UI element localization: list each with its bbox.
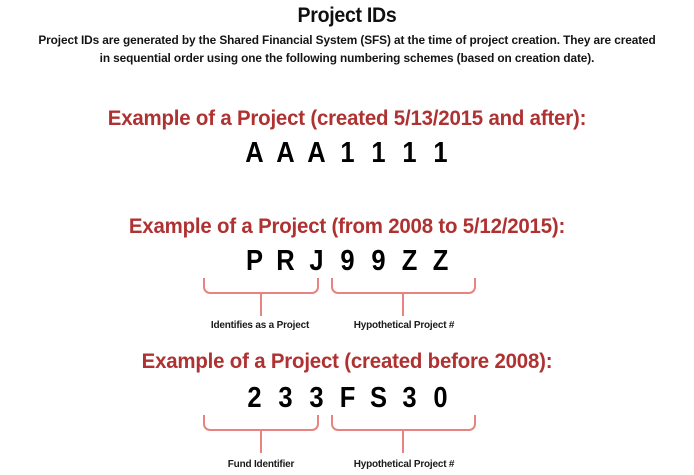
brace-stem-2 (402, 294, 404, 316)
intro-paragraph: Project IDs are generated by the Shared … (19, 31, 674, 67)
intro-line-1: Project IDs are generated by the Shared … (19, 31, 674, 49)
code-char: S (364, 381, 391, 415)
code-char: Z (426, 244, 453, 278)
example-block-3: Example of a Project (created before 200… (0, 348, 694, 475)
code-char: F (333, 381, 360, 415)
intro-line-2: in sequential order using one the follow… (19, 49, 674, 67)
code-char: 3 (271, 381, 298, 415)
example-2-caption-1: Identifies as a Project (189, 318, 332, 332)
example-3-caption-1: Fund Identifier (190, 457, 333, 471)
example-2-caption-2: Hypothetical Project # (333, 318, 476, 332)
code-char: 1 (395, 136, 422, 170)
example-block-2: Example of a Project (from 2008 to 5/12/… (0, 213, 694, 336)
example-2-heading: Example of a Project (from 2008 to 5/12/… (17, 213, 676, 239)
brace-segment-1 (203, 278, 319, 294)
code-char: A (271, 136, 298, 170)
code-char: Z (395, 244, 422, 278)
brace-stem-2 (402, 431, 404, 453)
brace-segment-2 (331, 415, 476, 431)
example-2-brace-layer (0, 278, 694, 322)
code-char: 0 (426, 381, 453, 415)
example-3-segment-1: 233 (239, 381, 332, 415)
example-2-caption-layer: Identifies as a Project Hypothetical Pro… (0, 318, 694, 336)
code-char: J (302, 244, 329, 278)
example-3-segment-2: FS30 (332, 381, 456, 415)
example-1-code: AAA1111 (0, 136, 694, 170)
example-3-heading: Example of a Project (created before 200… (17, 348, 676, 374)
code-char: P (240, 244, 267, 278)
example-1-segment-1: AAA1111 (239, 136, 456, 170)
code-char: 1 (364, 136, 391, 170)
example-1-code-row: AAA1111 (0, 136, 694, 170)
code-char: 1 (333, 136, 360, 170)
example-3-code-row: 233 FS30 (0, 381, 694, 415)
example-3-caption-2: Hypothetical Project # (333, 457, 476, 471)
code-char: R (271, 244, 298, 278)
code-char: 3 (302, 381, 329, 415)
example-3-caption-layer: Fund Identifier Hypothetical Project # (0, 457, 694, 475)
code-char: 1 (426, 136, 453, 170)
example-block-1: Example of a Project (created 5/13/2015 … (0, 105, 694, 170)
code-char: A (240, 136, 267, 170)
example-2-segment-1: PRJ (239, 244, 332, 278)
example-1-heading: Example of a Project (created 5/13/2015 … (17, 105, 676, 131)
slide-canvas: Project IDs Project IDs are generated by… (0, 0, 694, 474)
example-3-brace-layer (0, 415, 694, 459)
brace-segment-2 (331, 278, 476, 294)
example-3-code: 233 FS30 (0, 381, 694, 415)
example-2-code-row: PRJ 99ZZ (0, 244, 694, 278)
code-char: 9 (364, 244, 391, 278)
page-title: Project IDs (24, 3, 669, 29)
brace-segment-1 (203, 415, 319, 431)
code-char: 9 (333, 244, 360, 278)
example-2-segment-2: 99ZZ (332, 244, 456, 278)
example-2-code: PRJ 99ZZ (0, 244, 694, 278)
code-char: 2 (240, 381, 267, 415)
code-char: A (302, 136, 329, 170)
brace-stem-1 (260, 431, 262, 453)
code-char: 3 (395, 381, 422, 415)
brace-stem-1 (260, 294, 262, 316)
